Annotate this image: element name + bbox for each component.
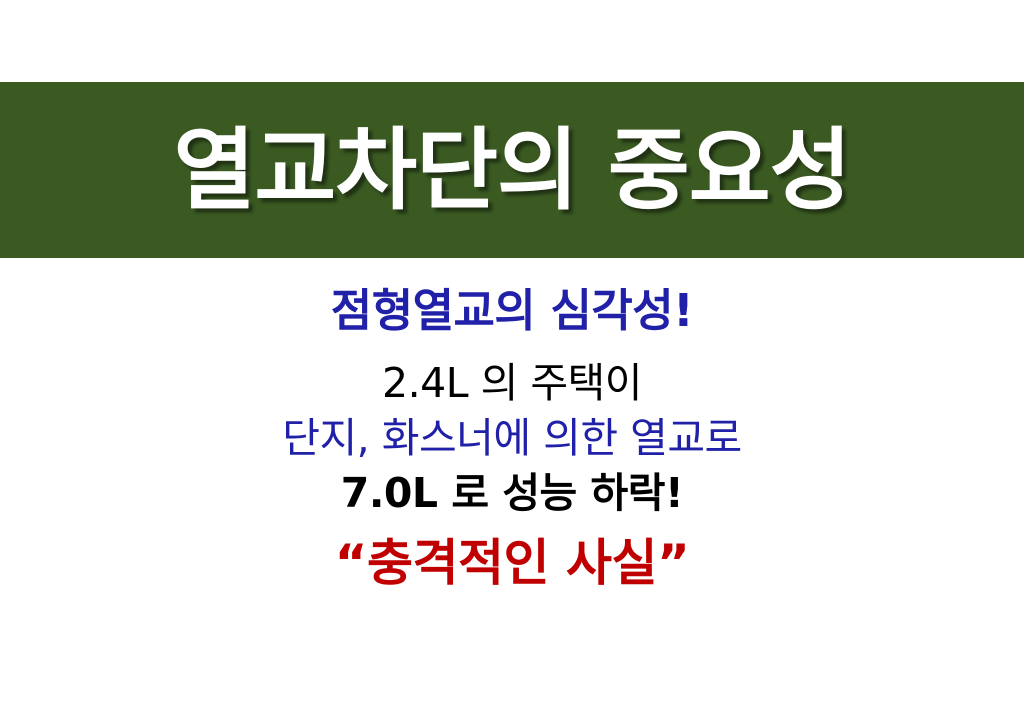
title-banner: 열교차단의 중요성 [0,82,1024,258]
slide-title: 열교차단의 중요성 [173,126,850,215]
slide-body: 점형열교의 심각성! 2.4L 의 주택이 단지, 화스너에 의한 열교로 7.… [0,282,1024,588]
body-headline: 점형열교의 심각성! [0,282,1024,333]
body-emphasis: “충격적인 사실” [0,538,1024,588]
body-stat-before: 2.4L 의 주택이 [0,363,1024,404]
body-stat-after: 7.0L 로 성능 하락! [0,473,1024,514]
presentation-slide: 열교차단의 중요성 점형열교의 심각성! 2.4L 의 주택이 단지, 화스너에… [0,0,1024,709]
body-cause: 단지, 화스너에 의한 열교로 [0,418,1024,459]
